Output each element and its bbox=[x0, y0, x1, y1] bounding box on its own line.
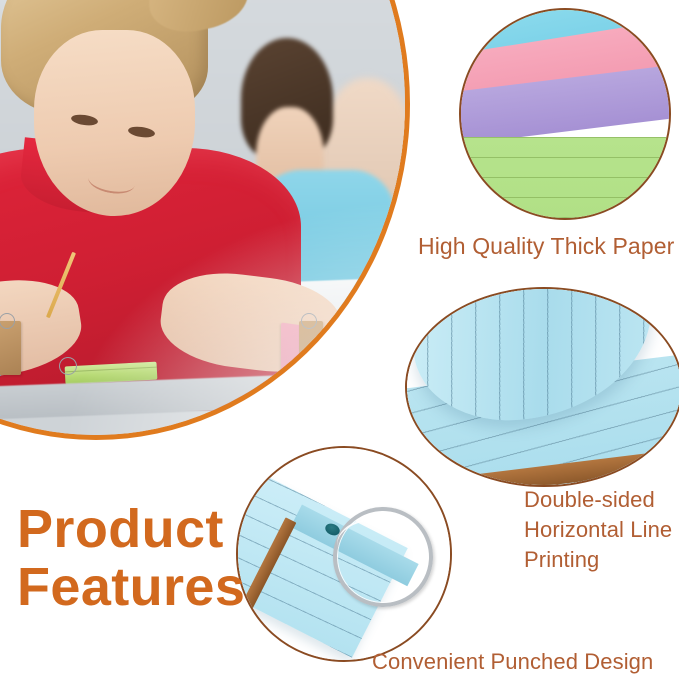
page-title-line1: Product bbox=[17, 499, 224, 559]
feature-caption-convenient-punched-design: Convenient Punched Design bbox=[372, 648, 653, 676]
feature-caption-double-sided-horizontal-line-printing: Double-sided Horizontal Line Printing bbox=[524, 485, 672, 575]
classroom-photo bbox=[0, 0, 405, 435]
card-pack-blue bbox=[0, 321, 21, 375]
page-title: ProductFeatures bbox=[17, 500, 245, 616]
card-pack-blue-cover bbox=[0, 321, 21, 375]
feature-image-high-quality-thick-paper bbox=[459, 8, 671, 220]
card-green-ruled bbox=[459, 137, 671, 220]
feature-caption-high-quality-thick-paper: High Quality Thick Paper bbox=[418, 231, 674, 261]
feature-image-convenient-punched-design bbox=[236, 446, 452, 662]
hero-photo bbox=[0, 0, 410, 440]
infographic-canvas: High Quality Thick Paper Double-sided Ho… bbox=[0, 0, 679, 680]
stacked-cards-illustration bbox=[459, 8, 671, 220]
page-title-line2: Features bbox=[17, 557, 245, 617]
punched-cards-illustration bbox=[238, 448, 450, 660]
photo-fade-overlay bbox=[59, 197, 410, 440]
